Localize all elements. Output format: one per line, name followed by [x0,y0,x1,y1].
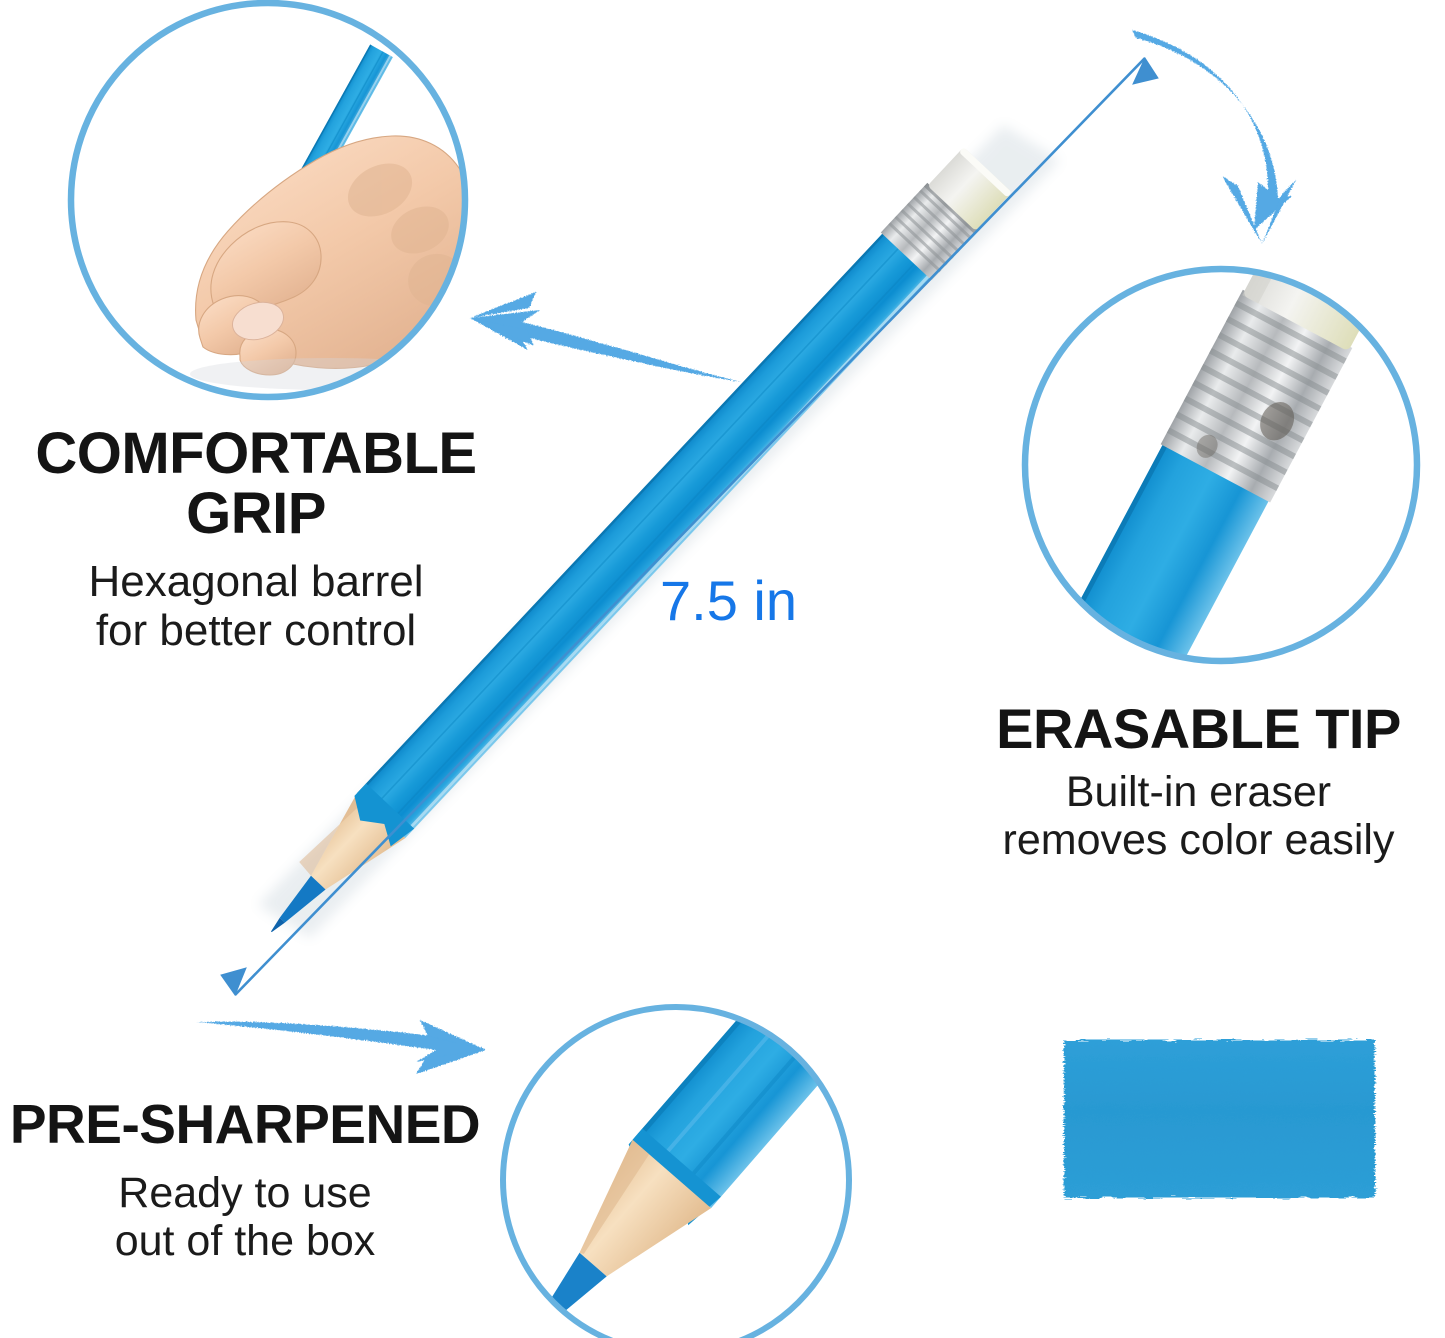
feature-desc-line2: for better control [96,606,416,655]
feature-title-pre-sharpened: PRE-SHARPENED [0,1096,490,1153]
feature-desc-erasable-tip: Built-in eraser removes color easily [952,768,1445,864]
feature-desc-line1: Hexagonal barrel [88,557,423,606]
feature-title-comfortable-grip: COMFORTABLE GRIP [0,424,512,545]
feature-pre-sharpened: PRE-SHARPENED Ready to use out of the bo… [0,1096,490,1266]
product-infographic: COMFORTABLE GRIP Hexagonal barrel for be… [0,0,1445,1338]
callout-circle-comfortable-grip [68,0,475,400]
callout-circle-erasable-tip [1020,215,1422,684]
feature-desc-line1: Built-in eraser [1066,768,1331,816]
feature-desc-line2: out of the box [115,1217,376,1265]
feature-comfortable-grip: COMFORTABLE GRIP Hexagonal barrel for be… [0,424,512,655]
feature-title-erasable-tip: ERASABLE TIP [952,700,1445,758]
blue-color-swatch [1064,1040,1375,1198]
feature-desc-line2: removes color easily [1003,816,1395,864]
callout-circle-pre-sharpened [495,951,875,1338]
arrow-right-icon [196,1020,486,1074]
feature-title-line1: COMFORTABLE [35,421,476,486]
feature-erasable-tip: ERASABLE TIP Built-in eraser removes col… [952,700,1445,865]
measurement-label: 7.5 in [660,568,797,633]
arrow-left-icon [470,292,742,382]
feature-desc-comfortable-grip: Hexagonal barrel for better control [0,557,512,656]
feature-desc-line1: Ready to use [118,1169,371,1217]
feature-desc-pre-sharpened: Ready to use out of the box [0,1169,490,1265]
curved-arrow-down-icon [1132,30,1296,244]
feature-title-line2: GRIP [186,481,326,546]
